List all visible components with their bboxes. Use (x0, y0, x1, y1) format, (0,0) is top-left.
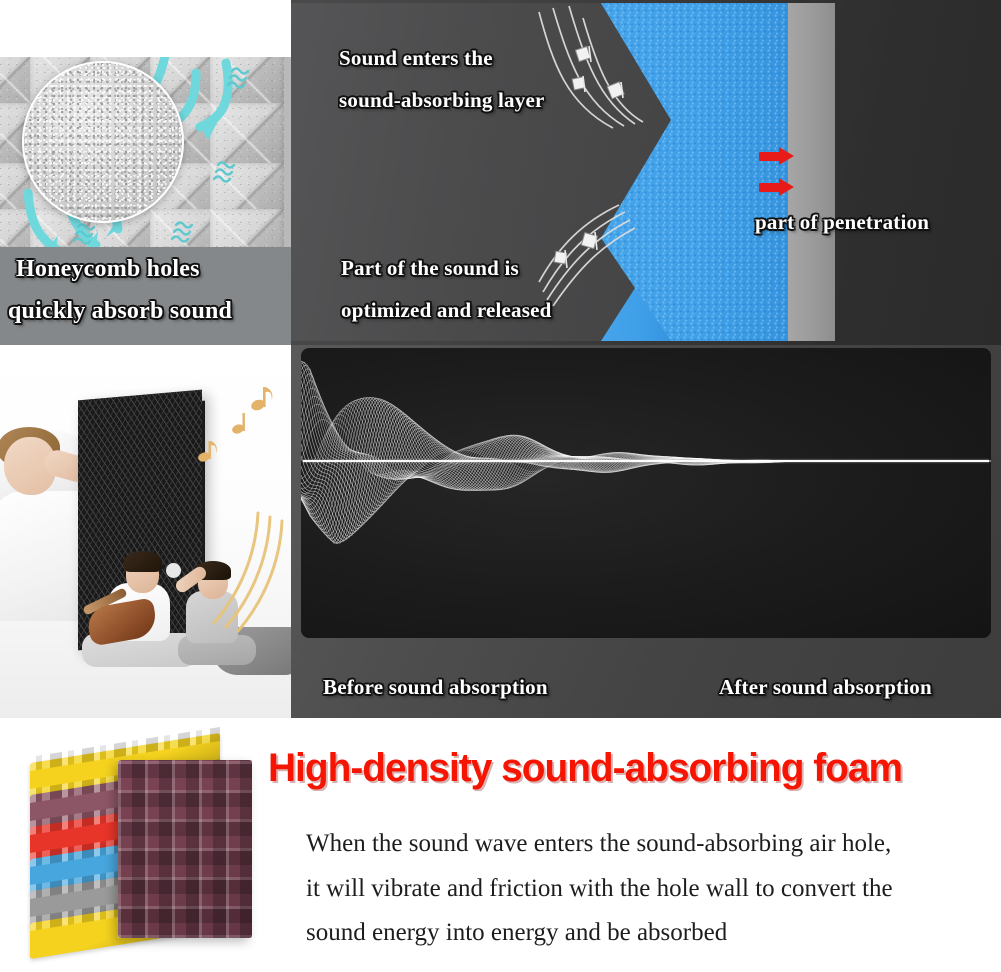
waveform-panel: Before sound absorption After sound abso… (291, 345, 1001, 718)
headline: High-density sound-absorbing foam (268, 746, 902, 791)
diagram-caption-top-2: sound-absorbing layer (339, 88, 545, 113)
diagram-caption-penetration: part of penetration (755, 210, 929, 235)
product-infographic: Honeycomb holes quickly absorb sound (0, 0, 1001, 972)
magnifier-circle (22, 61, 184, 223)
waveform-label-after: After sound absorption (719, 675, 932, 700)
bottom-text-section: High-density sound-absorbing foam When t… (0, 718, 1001, 972)
foam-texture-photo (0, 57, 291, 247)
description-line-1: When the sound wave enters the sound-abs… (306, 822, 996, 867)
foam-stack-image (8, 736, 258, 962)
description-text: When the sound wave enters the sound-abs… (306, 822, 996, 956)
absorption-diagram-panel: Sound enters the sound-absorbing layer P… (291, 0, 1001, 345)
foam-caption-line-2: quickly absorb sound (8, 298, 232, 325)
foam-closeup-panel: Honeycomb holes quickly absorb sound (0, 0, 291, 345)
description-line-3: sound energy into energy and be absorbed (306, 911, 996, 956)
featured-foam-panel (118, 760, 252, 938)
music-notes-icon (0, 345, 291, 718)
description-line-2: it will vibrate and friction with the ho… (306, 867, 996, 912)
sound-waveform-graphic (301, 348, 991, 638)
diagram-caption-top-1: Sound enters the (339, 46, 493, 71)
waveform-label-before: Before sound absorption (323, 675, 548, 700)
diagram-caption-bottom-2: optimized and released (341, 298, 552, 323)
waveform-screen (301, 348, 991, 638)
foam-caption-line-1: Honeycomb holes (16, 256, 200, 283)
lifestyle-photo-panel (0, 345, 291, 718)
diagram-caption-bottom-1: Part of the sound is (341, 256, 519, 281)
